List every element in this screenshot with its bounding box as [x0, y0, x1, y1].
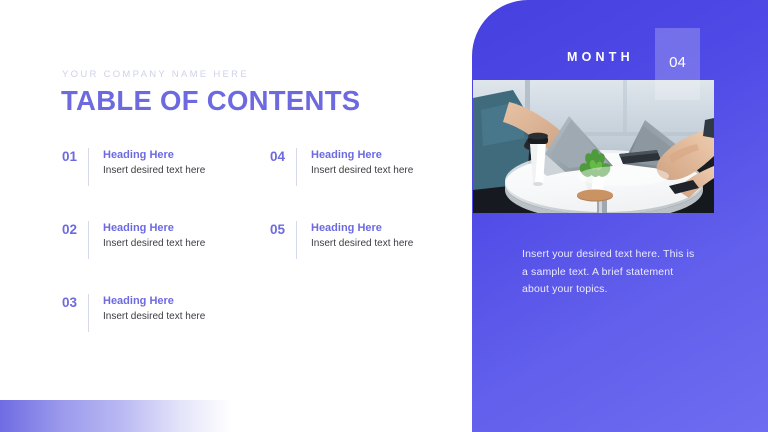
toc-number: 05 [270, 221, 296, 238]
toc-text-group: Heading Here Insert desired text here [311, 148, 460, 178]
month-label: MONTH [567, 50, 634, 64]
toc-number: 03 [62, 294, 88, 311]
toc-number: 04 [270, 148, 296, 165]
toc-row: 01 Heading Here Insert desired text here… [62, 148, 462, 221]
toc-divider [88, 148, 89, 186]
toc-heading: Heading Here [311, 221, 460, 235]
toc-divider [296, 148, 297, 186]
toc-heading: Heading Here [103, 148, 252, 162]
left-content-pane: YOUR COMPANY NAME HERE TABLE OF CONTENTS… [0, 0, 478, 432]
toc-text-group: Heading Here Insert desired text here [103, 294, 252, 324]
toc-item-04[interactable]: 04 Heading Here Insert desired text here [270, 148, 460, 186]
toc-divider [88, 221, 89, 259]
slide-canvas: YOUR COMPANY NAME HERE TABLE OF CONTENTS… [0, 0, 768, 432]
toc-item-01[interactable]: 01 Heading Here Insert desired text here [62, 148, 252, 186]
toc-row: 02 Heading Here Insert desired text here… [62, 221, 462, 294]
toc-subtext: Insert desired text here [311, 164, 460, 178]
right-accent-panel: MONTH 04 [472, 0, 768, 432]
toc-row: 03 Heading Here Insert desired text here [62, 294, 462, 367]
toc-subtext: Insert desired text here [103, 164, 252, 178]
month-number-badge: 04 [655, 28, 700, 100]
toc-item-05[interactable]: 05 Heading Here Insert desired text here [270, 221, 460, 259]
toc-divider [88, 294, 89, 332]
toc-text-group: Heading Here Insert desired text here [311, 221, 460, 251]
table-of-contents-list: 01 Heading Here Insert desired text here… [62, 148, 462, 367]
toc-heading: Heading Here [103, 294, 252, 308]
month-number-value: 04 [655, 54, 700, 71]
toc-heading: Heading Here [103, 221, 252, 235]
toc-item-03[interactable]: 03 Heading Here Insert desired text here [62, 294, 252, 332]
toc-item-02[interactable]: 02 Heading Here Insert desired text here [62, 221, 252, 259]
toc-heading: Heading Here [311, 148, 460, 162]
toc-number: 01 [62, 148, 88, 165]
toc-text-group: Heading Here Insert desired text here [103, 221, 252, 251]
page-title: TABLE OF CONTENTS [61, 85, 360, 117]
toc-subtext: Insert desired text here [103, 237, 252, 251]
toc-subtext: Insert desired text here [103, 310, 252, 324]
toc-subtext: Insert desired text here [311, 237, 460, 251]
toc-text-group: Heading Here Insert desired text here [103, 148, 252, 178]
panel-paragraph: Insert your desired text here. This is a… [522, 246, 697, 299]
bottom-gradient-accent-bar [0, 400, 232, 432]
company-name-eyebrow: YOUR COMPANY NAME HERE [62, 69, 249, 80]
toc-number: 02 [62, 221, 88, 238]
toc-divider [296, 221, 297, 259]
